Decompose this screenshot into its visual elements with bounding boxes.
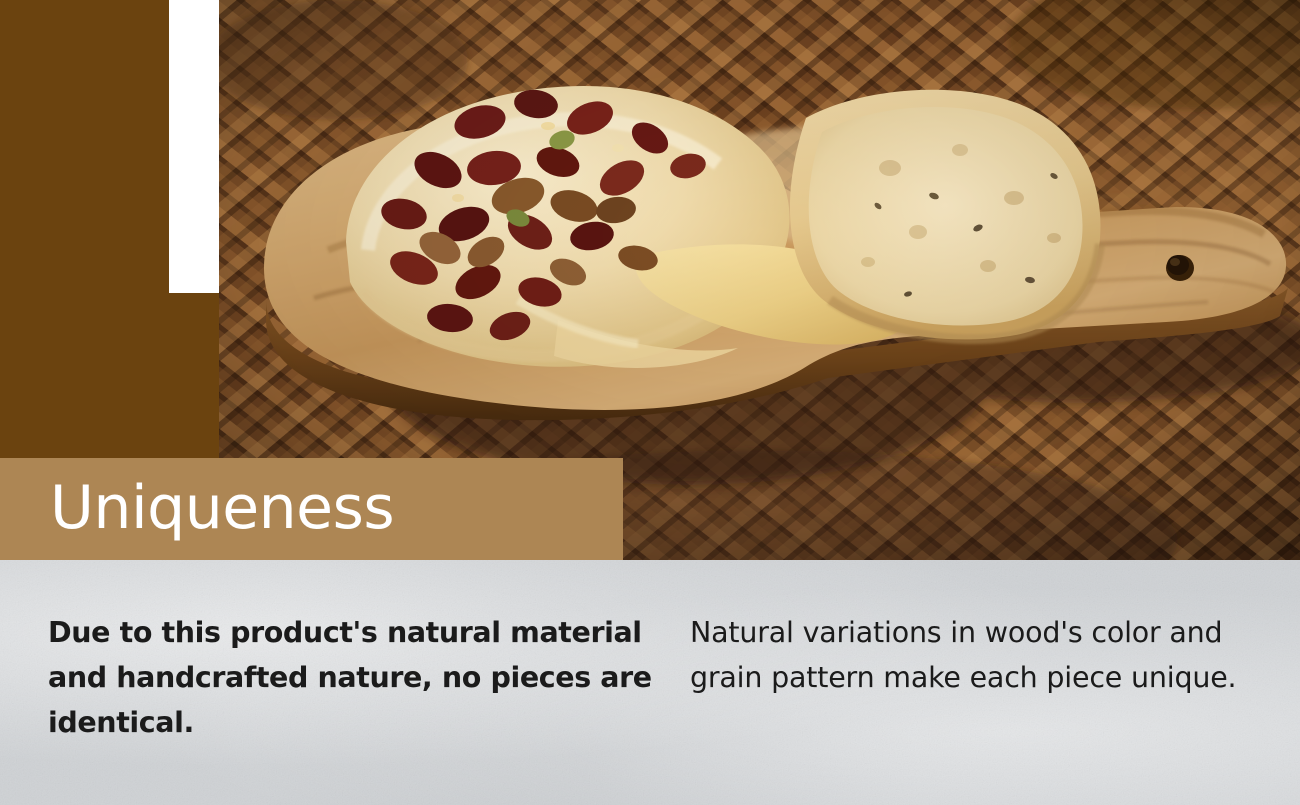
white-accent-stripe [169, 0, 219, 293]
description-left-column: Due to this product's natural material a… [48, 610, 658, 745]
page-title: Uniqueness [0, 478, 394, 538]
title-banner: Uniqueness [0, 458, 623, 561]
slide-uniqueness: Uniqueness Due to this product's natural… [0, 0, 1300, 805]
body-text-area: Due to this product's natural material a… [0, 560, 1300, 805]
description-right-column: Natural variations in wood's color and g… [690, 610, 1250, 700]
